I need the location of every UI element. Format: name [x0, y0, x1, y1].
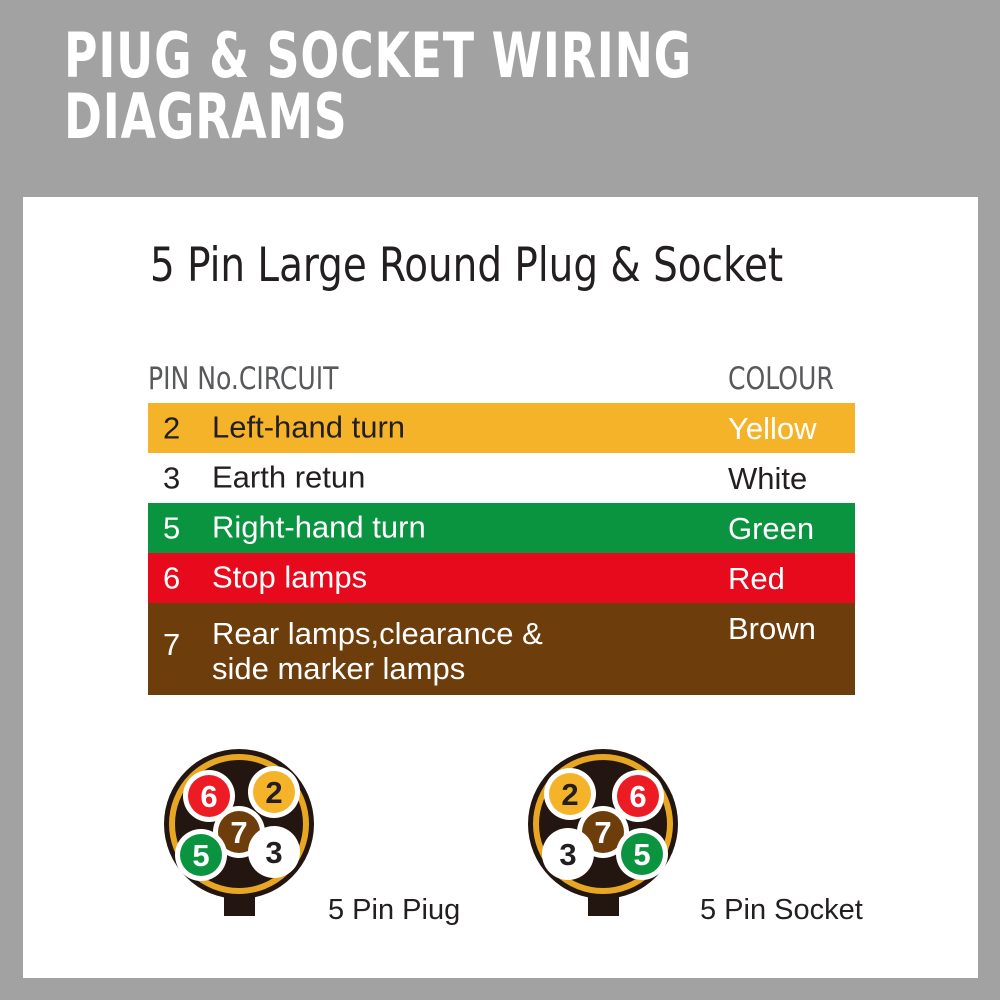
plug-connector-diagram: 62753 5 Pin Piug	[156, 748, 356, 968]
plug-pin-5: 5	[175, 829, 227, 881]
table-row: 2Left-hand turnYellow	[148, 403, 855, 453]
cell-circuit-description: Left-hand turn	[212, 411, 405, 446]
socket-svg: 26735	[520, 748, 687, 923]
cell-wire-colour: Brown	[728, 613, 816, 644]
page-banner: PIUG & SOCKET WIRING DIAGRAMS	[0, 0, 1000, 197]
table-row: 3Earth retunWhite	[148, 453, 855, 503]
socket-pin-label: 6	[629, 779, 646, 814]
table-row: 5Right-hand turnGreen	[148, 503, 855, 553]
cell-circuit-description: Rear lamps,clearance & side marker lamps	[212, 617, 543, 686]
plug-pin-label: 6	[200, 779, 217, 814]
cell-pin-number: 3	[163, 463, 180, 494]
plug-pin-2: 2	[248, 766, 300, 818]
table-header-pin-circuit: PIN No.CIRCUIT	[148, 361, 339, 397]
table-body: 2Left-hand turnYellow3Earth retunWhite5R…	[148, 403, 855, 695]
cell-pin-number: 2	[163, 413, 180, 444]
banner-title: PIUG & SOCKET WIRING DIAGRAMS	[64, 26, 832, 148]
cell-circuit-description: Right-hand turn	[212, 511, 426, 546]
plug-pin-label: 5	[192, 838, 209, 873]
socket-pin-3: 3	[542, 828, 594, 880]
wiring-table: PIN No.CIRCUIT COLOUR 2Left-hand turnYel…	[148, 361, 855, 695]
diagram-card: 5 Pin Large Round Plug & Socket PIN No.C…	[23, 197, 978, 978]
cell-wire-colour: Green	[728, 513, 814, 544]
socket-connector-diagram: 26735 5 Pin Socket	[520, 748, 720, 968]
connector-diagrams: 62753 5 Pin Piug 26735 5 Pin Socket	[23, 748, 978, 968]
socket-caption: 5 Pin Socket	[700, 894, 863, 927]
cell-pin-number: 5	[163, 513, 180, 544]
plug-pin-label: 3	[265, 835, 282, 870]
cell-pin-number: 7	[163, 629, 180, 660]
plug-pin-label: 7	[230, 815, 247, 850]
plug-pin-label: 2	[265, 775, 282, 810]
cell-pin-number: 6	[163, 563, 180, 594]
cell-wire-colour: White	[728, 463, 807, 494]
plug-face-graphic: 62753	[156, 748, 323, 928]
plug-caption: 5 Pin Piug	[328, 894, 460, 927]
table-row: 7Rear lamps,clearance & side marker lamp…	[148, 603, 855, 695]
table-row: 6Stop lampsRed	[148, 553, 855, 603]
table-header-row: PIN No.CIRCUIT COLOUR	[148, 361, 855, 403]
cell-wire-colour: Red	[728, 563, 785, 594]
cell-circuit-description: Stop lamps	[212, 561, 367, 596]
cell-circuit-description: Earth retun	[212, 461, 365, 496]
cell-wire-colour: Yellow	[728, 413, 816, 444]
socket-pin-label: 7	[594, 815, 611, 850]
plug-svg: 62753	[156, 748, 323, 923]
socket-pin-5: 5	[616, 828, 668, 880]
socket-pin-label: 2	[561, 777, 578, 812]
socket-pin-label: 5	[633, 837, 650, 872]
plug-pin-3: 3	[248, 826, 300, 878]
socket-face-graphic: 26735	[520, 748, 687, 928]
card-title: 5 Pin Large Round Plug & Socket	[150, 238, 783, 293]
socket-pin-label: 3	[559, 837, 576, 872]
table-header-colour: COLOUR	[728, 361, 834, 397]
